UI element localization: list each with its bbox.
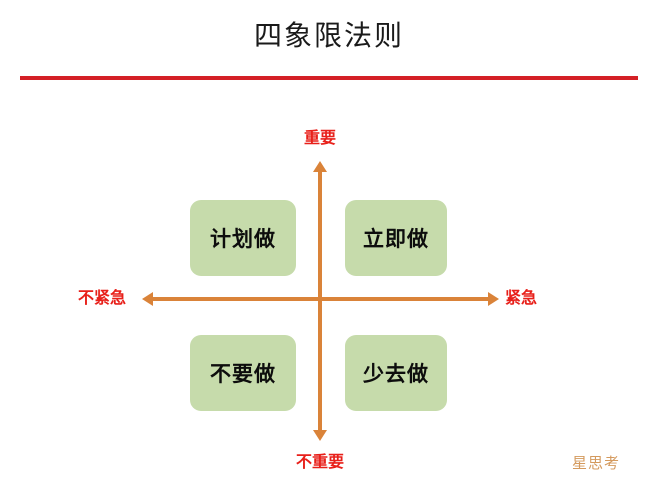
arrow-right-icon — [488, 292, 499, 306]
axis-label-not-important: 不重要 — [0, 452, 640, 472]
axis-label-urgent: 紧急 — [505, 288, 537, 308]
quadrant-label: 少去做 — [363, 358, 429, 388]
quadrant-bottom-left[interactable]: 不要做 — [190, 335, 296, 411]
horizontal-axis-line — [150, 297, 490, 301]
quadrant-top-right[interactable]: 立即做 — [345, 200, 447, 276]
watermark: 星思考 — [572, 452, 620, 473]
title-divider — [20, 76, 638, 80]
axis-label-important: 重要 — [0, 128, 640, 148]
arrow-left-icon — [142, 292, 153, 306]
quadrant-label: 不要做 — [210, 358, 276, 388]
quadrant-top-left[interactable]: 计划做 — [190, 200, 296, 276]
quadrant-label: 立即做 — [363, 223, 429, 253]
quadrant-bottom-right[interactable]: 少去做 — [345, 335, 447, 411]
arrow-down-icon — [313, 430, 327, 441]
vertical-axis-line — [318, 170, 322, 432]
arrow-up-icon — [313, 161, 327, 172]
quadrant-label: 计划做 — [210, 223, 276, 253]
axis-label-not-urgent: 不紧急 — [78, 288, 126, 308]
page-title: 四象限法则 — [0, 16, 658, 56]
slide-canvas: 四象限法则 重要 不重要 不紧急 紧急 计划做 立即做 不要做 少去做 星思考 — [0, 0, 658, 500]
